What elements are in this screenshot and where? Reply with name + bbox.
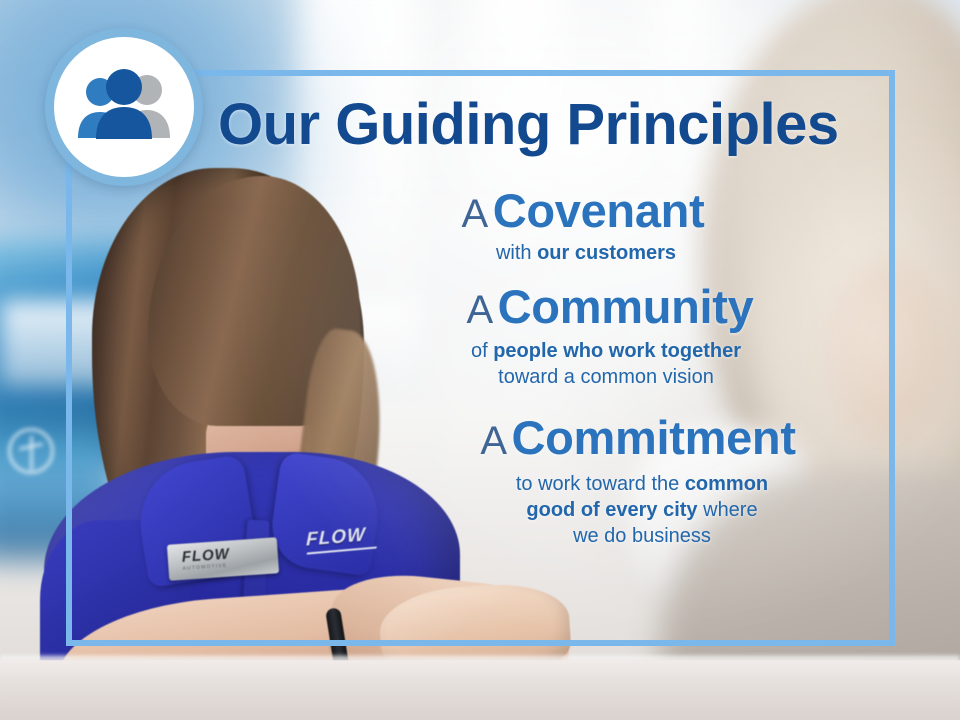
principle-covenant: A Covenant with our customers — [300, 186, 880, 266]
principle-commitment-subtext: to work toward the common good of every … — [404, 471, 880, 550]
desk-surface — [0, 660, 960, 720]
principle-commitment-subline-0: to work toward the common — [404, 471, 880, 497]
principle-community-subline-1: toward a common vision — [332, 364, 880, 390]
principle-community: A Community of people who work together … — [300, 282, 880, 391]
principle-covenant-subtext: with our customers — [292, 240, 880, 266]
principles-list: A Covenant with our customers A Communit… — [300, 186, 880, 556]
people-group-icon — [72, 68, 176, 146]
principle-commitment-keyword: Commitment — [511, 411, 795, 464]
principle-covenant-keyword: Covenant — [493, 184, 705, 237]
principle-commitment-article: A — [480, 419, 507, 463]
principle-commitment-subline-1: good of every city where — [404, 497, 880, 523]
guiding-principles-poster: FLOW FLOW AUTOMOTIVE — [0, 0, 960, 720]
principle-community-article: A — [467, 288, 494, 332]
principle-covenant-heading: A Covenant — [286, 186, 880, 236]
principle-community-heading: A Community — [340, 282, 880, 332]
principle-community-keyword: Community — [498, 280, 754, 333]
people-group-badge — [45, 28, 203, 186]
principle-community-subline-0: of people who work together — [332, 338, 880, 364]
principle-commitment-heading: A Commitment — [396, 413, 880, 463]
principle-commitment: A Commitment to work toward the common g… — [300, 413, 880, 550]
page-title: Our Guiding Principles — [218, 96, 878, 154]
principle-community-subtext: of people who work together toward a com… — [332, 338, 880, 391]
principle-commitment-subline-2: we do business — [404, 523, 880, 549]
principle-covenant-article: A — [462, 192, 489, 236]
principle-covenant-subline-0: with our customers — [292, 240, 880, 266]
flow-name-badge: FLOW AUTOMOTIVE — [167, 537, 279, 581]
